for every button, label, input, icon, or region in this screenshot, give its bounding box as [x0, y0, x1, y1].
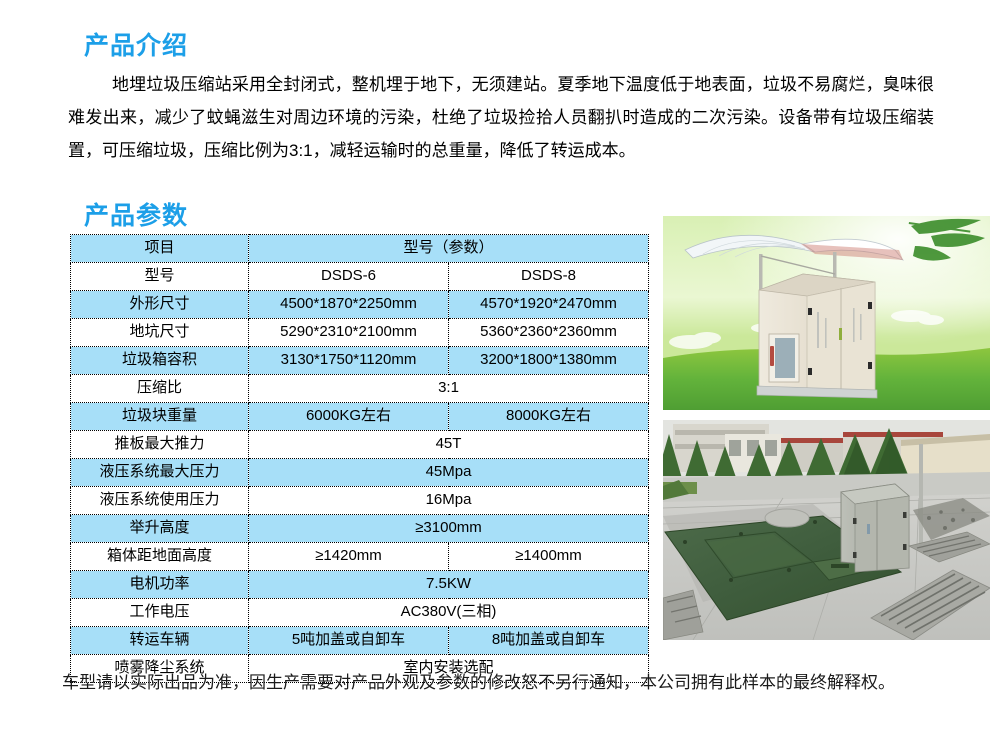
cell-value-model1: ≥1420mm — [249, 543, 449, 571]
table-row: 转运车辆5吨加盖或自卸车8吨加盖或自卸车 — [71, 627, 649, 655]
introduction-paragraph: 地埋垃圾压缩站采用全封闭式，整机埋于地下，无须建站。夏季地下温度低于地表面，垃圾… — [68, 68, 934, 167]
table-header-row: 项目型号（参数） — [71, 235, 649, 263]
cell-item: 型号 — [71, 263, 249, 291]
cell-value-model2: 8000KG左右 — [449, 403, 649, 431]
cell-value-merged: 16Mpa — [249, 487, 649, 515]
cell-item: 工作电压 — [71, 599, 249, 627]
table-row: 举升高度≥3100mm — [71, 515, 649, 543]
cell-value-model1: DSDS-6 — [249, 263, 449, 291]
cell-value-merged: 45T — [249, 431, 649, 459]
cell-value-model1: 6000KG左右 — [249, 403, 449, 431]
cell-value-model2: 5360*2360*2360mm — [449, 319, 649, 347]
cell-value-merged: ≥3100mm — [249, 515, 649, 543]
cell-item: 压缩比 — [71, 375, 249, 403]
spec-table: 项目型号（参数）型号DSDS-6DSDS-8外形尺寸4500*1870*2250… — [70, 234, 649, 683]
cell-item: 液压系统最大压力 — [71, 459, 249, 487]
cell-item: 举升高度 — [71, 515, 249, 543]
cell-value-model2: 4570*1920*2470mm — [449, 291, 649, 319]
cell-value-model2: 3200*1800*1380mm — [449, 347, 649, 375]
cell-item: 箱体距地面高度 — [71, 543, 249, 571]
table-row: 地坑尺寸5290*2310*2100mm5360*2360*2360mm — [71, 319, 649, 347]
cell-item: 垃圾箱容积 — [71, 347, 249, 375]
table-row: 液压系统最大压力45Mpa — [71, 459, 649, 487]
cell-value-merged: 45Mpa — [249, 459, 649, 487]
table-row: 型号DSDS-6DSDS-8 — [71, 263, 649, 291]
table-row: 垃圾块重量6000KG左右8000KG左右 — [71, 403, 649, 431]
cell-item: 推板最大推力 — [71, 431, 249, 459]
cell-value-model1: 4500*1870*2250mm — [249, 291, 449, 319]
cell-item: 垃圾块重量 — [71, 403, 249, 431]
cell-item: 液压系统使用压力 — [71, 487, 249, 515]
cell-value-merged: AC380V(三相) — [249, 599, 649, 627]
section-heading-parameters: 产品参数 — [84, 196, 188, 232]
footer-disclaimer: 车型请以实际出品为准，因生产需要对产品外观及参数的修改怒不另行通知，本公司拥有此… — [62, 668, 942, 693]
cell-item: 电机功率 — [71, 571, 249, 599]
table-row: 外形尺寸4500*1870*2250mm4570*1920*2470mm — [71, 291, 649, 319]
table-row: 箱体距地面高度≥1420mm≥1400mm — [71, 543, 649, 571]
cell-value-model2: ≥1400mm — [449, 543, 649, 571]
spec-table-wrapper: 项目型号（参数）型号DSDS-6DSDS-8外形尺寸4500*1870*2250… — [70, 234, 648, 683]
product-spec-page: 产品介绍 地埋垃圾压缩站采用全封闭式，整机埋于地下，无须建站。夏季地下温度低于地… — [0, 0, 992, 735]
cell-value-model2: DSDS-8 — [449, 263, 649, 291]
cell-value-merged: 3:1 — [249, 375, 649, 403]
table-row: 推板最大推力45T — [71, 431, 649, 459]
table-row: 压缩比3:1 — [71, 375, 649, 403]
section-heading-introduction: 产品介绍 — [84, 26, 188, 62]
header-cell-item: 项目 — [71, 235, 249, 263]
cell-value-model1: 5290*2310*2100mm — [249, 319, 449, 347]
cell-item: 外形尺寸 — [71, 291, 249, 319]
cell-item: 转运车辆 — [71, 627, 249, 655]
table-row: 液压系统使用压力16Mpa — [71, 487, 649, 515]
introduction-block: 地埋垃圾压缩站采用全封闭式，整机埋于地下，无须建站。夏季地下温度低于地表面，垃圾… — [68, 68, 934, 167]
photo-exterior-graphic — [663, 216, 990, 410]
cell-value-model1: 5吨加盖或自卸车 — [249, 627, 449, 655]
table-row: 工作电压AC380V(三相) — [71, 599, 649, 627]
photo-installed-graphic — [663, 420, 990, 640]
cell-item: 地坑尺寸 — [71, 319, 249, 347]
table-row: 电机功率7.5KW — [71, 571, 649, 599]
table-row: 垃圾箱容积3130*1750*1120mm3200*1800*1380mm — [71, 347, 649, 375]
cell-value-model1: 3130*1750*1120mm — [249, 347, 449, 375]
product-photo-exterior — [663, 216, 990, 410]
cell-value-model2: 8吨加盖或自卸车 — [449, 627, 649, 655]
header-cell-models: 型号（参数） — [249, 235, 649, 263]
product-photo-installed — [663, 420, 990, 640]
cell-value-merged: 7.5KW — [249, 571, 649, 599]
